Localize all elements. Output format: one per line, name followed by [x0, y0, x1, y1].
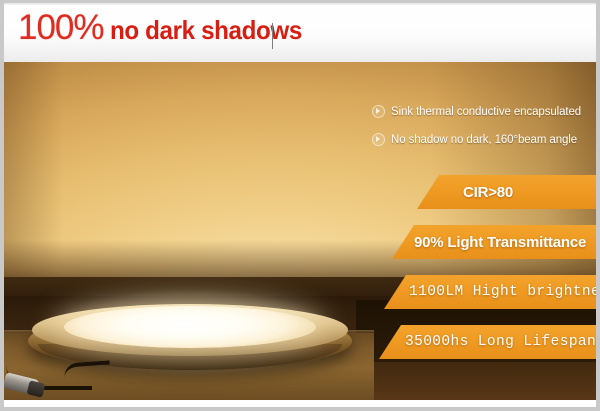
- spec-banner-cri: CIR>80: [417, 175, 596, 209]
- headline-emphasis: 100%: [18, 10, 104, 45]
- spec-banner-transmittance: 90% Light Transmittance: [392, 225, 596, 259]
- feature-text: Sink thermal conductive encapsulated: [391, 106, 581, 118]
- list-item: Sink thermal conductive encapsulated: [372, 105, 596, 118]
- ad-frame: 100% no dark shadows: [0, 0, 600, 411]
- header-top-rule: [4, 3, 596, 5]
- spec-banner-label: CIR>80: [463, 184, 513, 201]
- feature-text: No shadow no dark, 160°beam angle: [391, 134, 577, 146]
- circle-arrow-icon: [372, 105, 385, 118]
- headline-bar: 100% no dark shadows: [4, 3, 596, 62]
- product-photo: Sink thermal conductive encapsulated No …: [4, 62, 596, 400]
- feature-list: Sink thermal conductive encapsulated No …: [372, 105, 596, 161]
- circle-arrow-icon: [372, 133, 385, 146]
- spec-banner-label: 90% Light Transmittance: [414, 234, 586, 251]
- list-item: No shadow no dark, 160°beam angle: [372, 133, 596, 146]
- spec-banner-label: 35000hs Long Lifespan: [405, 334, 596, 350]
- text-caret: [272, 23, 273, 49]
- spec-banner-brightness: 1100LM Hight brightness: [384, 275, 596, 309]
- spec-banner-lifespan: 35000hs Long Lifespan: [379, 325, 596, 359]
- ad-canvas: 100% no dark shadows: [4, 3, 596, 407]
- spec-banner-label: 1100LM Hight brightness: [409, 284, 596, 300]
- lamp-diffuser-face: [64, 306, 316, 348]
- right-dark-block-lower: [356, 362, 596, 400]
- bottom-rule: [4, 400, 596, 407]
